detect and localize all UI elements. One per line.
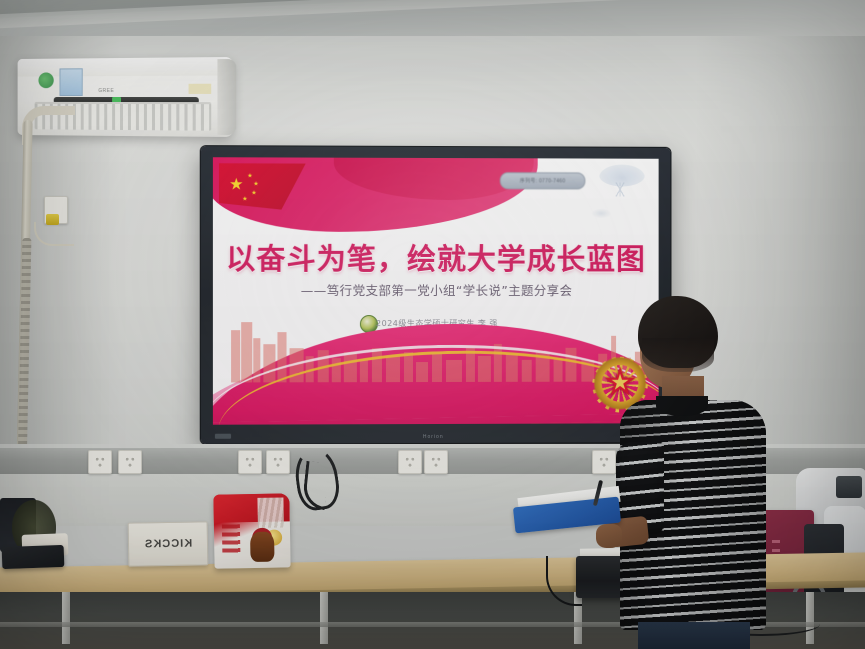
slide-title: 以奋斗为笔，绘就大学成长蓝图 xyxy=(213,236,659,278)
presenter-hair-fade xyxy=(642,338,714,372)
power-outlet[interactable] xyxy=(398,450,422,474)
display-screen[interactable]: ★ ★ ★ ★ ★ 序列号: 0770-7460 以奋斗为笔，绘就大学成长蓝图 … xyxy=(213,157,659,424)
energy-label-icon xyxy=(38,72,53,88)
presenter-jeans xyxy=(638,622,750,649)
firework-watermark-icon-small xyxy=(591,208,611,218)
energy-rating-sticker xyxy=(59,68,82,96)
interactive-flat-panel[interactable]: ★ ★ ★ ★ ★ 序列号: 0770-7460 以奋斗为笔，绘就大学成长蓝图 … xyxy=(201,146,671,444)
warning-sticker xyxy=(189,84,212,94)
classroom-photo-scene: GREE ★ ★ ★ ★ ★ xyxy=(0,0,865,649)
flag-star-1: ★ xyxy=(247,173,252,179)
shoe-box-label: KICCKS xyxy=(144,538,192,551)
presenter xyxy=(604,296,774,649)
power-outlet[interactable] xyxy=(424,450,448,474)
flag-star-3: ★ xyxy=(251,191,256,197)
display-brand-label: Horion xyxy=(423,434,444,440)
shoe-box: KICCKS xyxy=(128,521,209,566)
snack-mascot-icon xyxy=(250,532,275,562)
slide-subtitle: ——笃行党支部第一党小组“学长说”主题分享会 xyxy=(213,280,659,299)
flag-star-2: ★ xyxy=(253,181,258,187)
shirt-collar xyxy=(656,396,708,416)
snack-text-graphic xyxy=(222,524,241,554)
tablet-device[interactable] xyxy=(2,545,65,569)
presenter-hand xyxy=(596,524,622,548)
air-conditioner-brand: GREE xyxy=(98,88,114,94)
ir-receiver-icon xyxy=(215,434,231,439)
snack-package xyxy=(213,493,290,568)
presentation-slide: ★ ★ ★ ★ ★ 序列号: 0770-7460 以奋斗为笔，绘就大学成长蓝图 … xyxy=(213,157,659,424)
desk-leg xyxy=(62,592,70,644)
air-conditioner-side xyxy=(217,59,236,135)
snack-stripe-graphic xyxy=(257,497,284,527)
flag-star-large: ★ xyxy=(229,177,243,193)
serial-number-sticker: 序列号: 0770-7460 xyxy=(500,172,585,189)
flag-star-4: ★ xyxy=(242,197,247,203)
power-outlet[interactable] xyxy=(118,450,142,474)
wall-hook-icon xyxy=(836,476,862,498)
firework-watermark-icon xyxy=(607,182,633,196)
power-outlet[interactable] xyxy=(88,450,112,474)
desk-leg xyxy=(320,592,328,644)
power-outlet[interactable] xyxy=(266,450,290,474)
power-outlet[interactable] xyxy=(238,450,262,474)
